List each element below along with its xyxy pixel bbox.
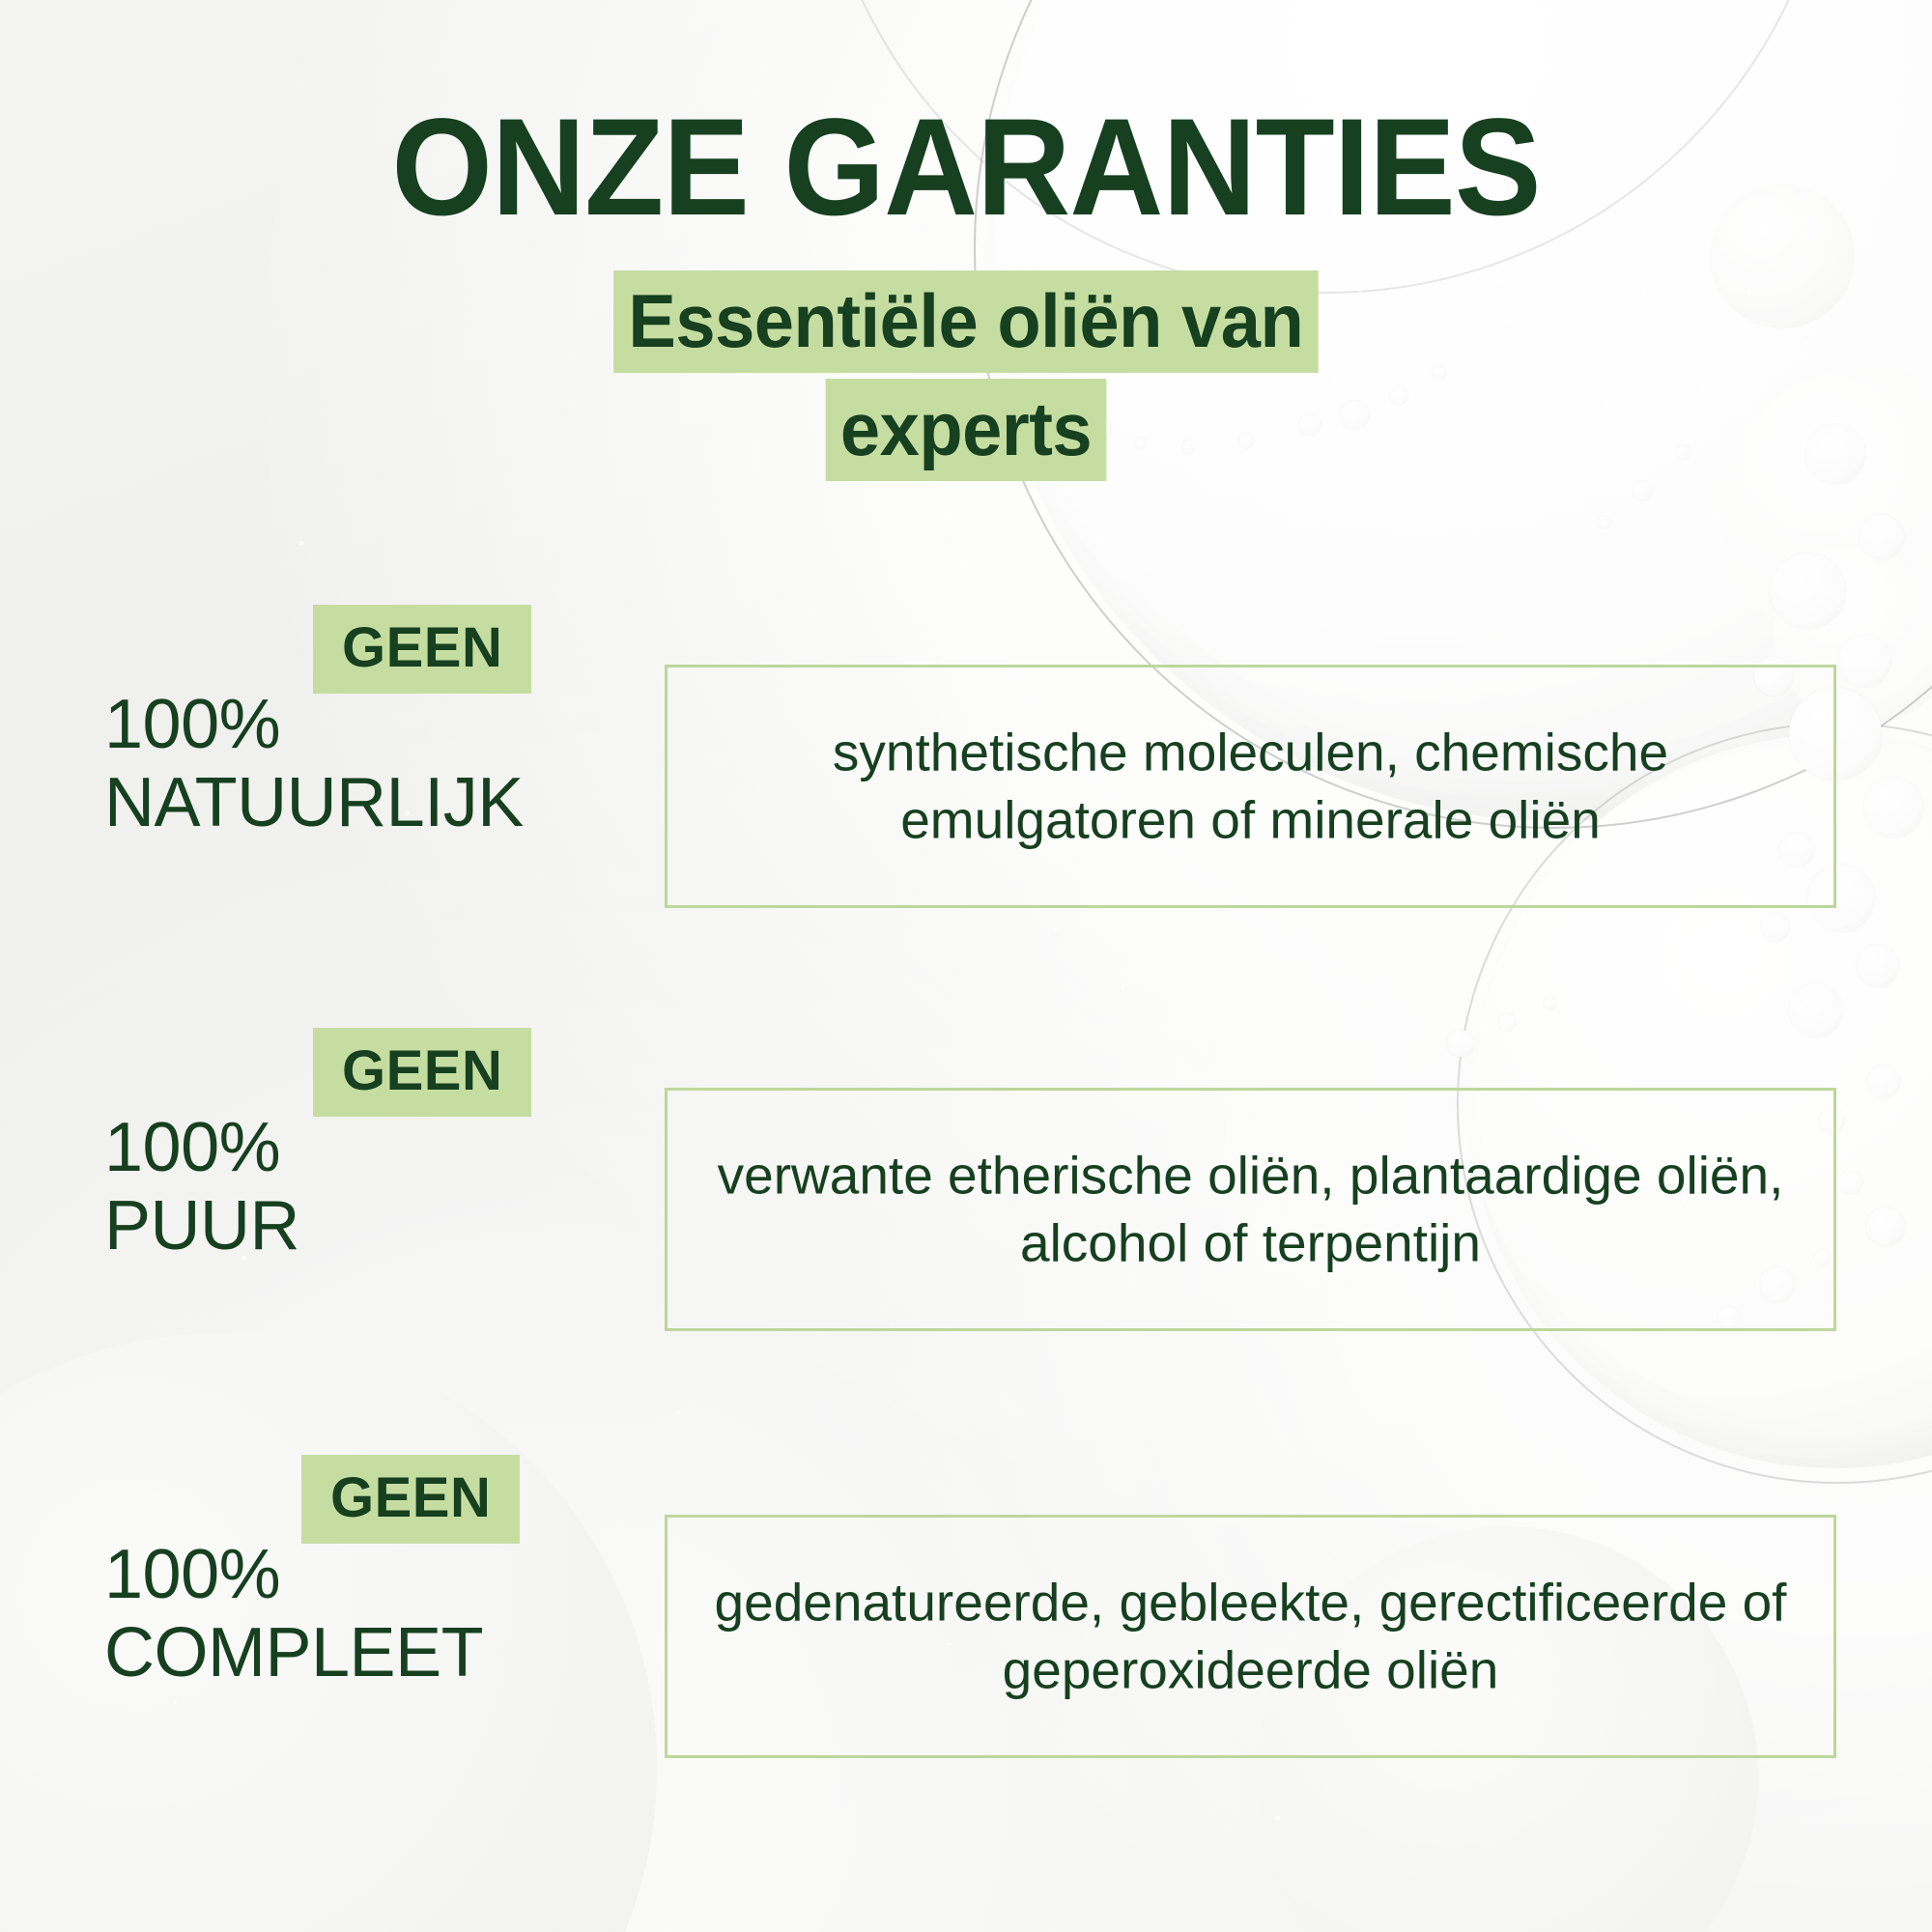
status-badge: GEEN: [301, 1455, 520, 1544]
guarantee-name: NATUURLIJK: [104, 764, 558, 842]
guarantee-name: PUUR: [104, 1187, 558, 1265]
guarantee-card: verwante etherische oliën, plantaardige …: [665, 1088, 1836, 1331]
guarantee-card: synthetische moleculen, chemische emulga…: [665, 665, 1836, 908]
guarantee-percent: 100%: [104, 1536, 280, 1613]
status-badge: GEEN: [313, 1028, 531, 1117]
guarantee-name: COMPLEET: [104, 1614, 558, 1692]
page-subtitle: Essentiële oliën van experts: [0, 270, 1932, 481]
guarantee-excludes: synthetische moleculen, chemische emulga…: [668, 719, 1833, 855]
subtitle-line-2: experts: [826, 379, 1107, 481]
page-title: ONZE GARANTIES: [58, 99, 1874, 237]
guarantee-card: gedenatureerde, gebleekte, gerectificeer…: [665, 1515, 1836, 1758]
guarantee-label: 100% COMPLEET: [104, 1536, 558, 1691]
guarantee-label: 100% PUUR: [104, 1109, 558, 1264]
guarantee-label: 100% NATUURLIJK: [104, 686, 558, 841]
guarantee-percent: 100%: [104, 1109, 280, 1186]
guarantee-excludes: gedenatureerde, gebleekte, gerectificeer…: [668, 1569, 1833, 1705]
subtitle-line-1: Essentiële oliën van: [613, 270, 1318, 373]
guarantee-row: 100% NATUURLIJK synthetische moleculen, …: [0, 638, 1932, 947]
guarantee-row: 100% COMPLEET gedenatureerde, gebleekte,…: [0, 1488, 1932, 1797]
guarantee-excludes: verwante etherische oliën, plantaardige …: [668, 1142, 1833, 1278]
status-badge: GEEN: [313, 605, 531, 694]
guarantee-row: 100% PUUR verwante etherische oliën, pla…: [0, 1061, 1932, 1370]
guarantee-percent: 100%: [104, 686, 280, 763]
